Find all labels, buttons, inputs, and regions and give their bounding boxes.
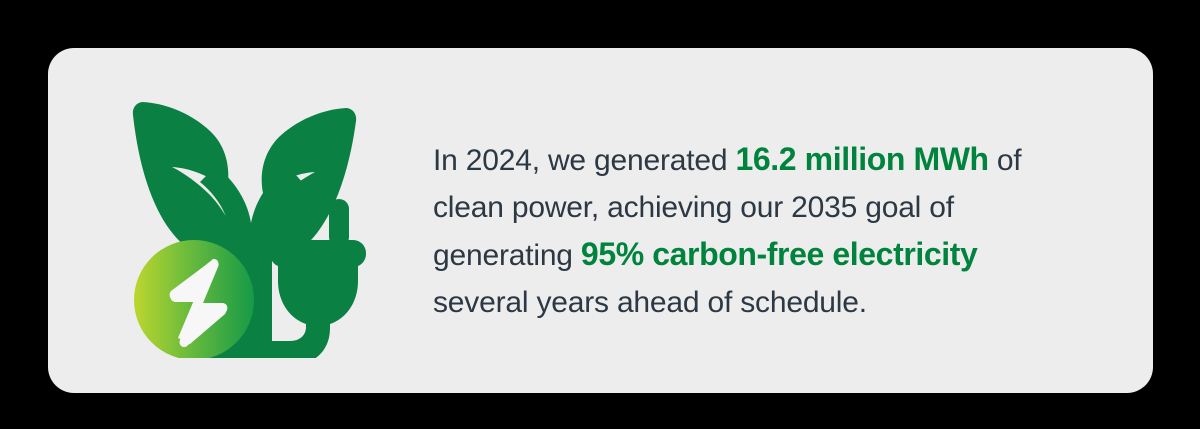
page-root: In 2024, we generated 16.2 million MWh o…: [0, 0, 1200, 429]
statement-highlight: 95% carbon-free electricity: [581, 236, 978, 272]
statement-line: generating 95% carbon-free electricity: [433, 231, 1123, 279]
statement-segment: clean power, achieving our 2035 goal of: [433, 191, 954, 224]
statement-line: several years ahead of schedule.: [433, 279, 1123, 326]
statement-line: In 2024, we generated 16.2 million MWh o…: [433, 136, 1123, 184]
statement-segment: of: [989, 144, 1022, 177]
statement-segment: generating: [433, 239, 581, 272]
stat-highlight-card: In 2024, we generated 16.2 million MWh o…: [48, 48, 1153, 393]
statement-highlight: 16.2 million MWh: [736, 141, 989, 177]
statement-segment: In 2024, we generated: [433, 144, 736, 177]
statement-text-block: In 2024, we generated 16.2 million MWh o…: [433, 136, 1123, 326]
clean-energy-illustration: [118, 83, 373, 358]
statement-segment: several years ahead of schedule.: [433, 286, 867, 319]
statement-line: clean power, achieving our 2035 goal of: [433, 184, 1123, 231]
left-leaf-icon: [133, 102, 240, 259]
